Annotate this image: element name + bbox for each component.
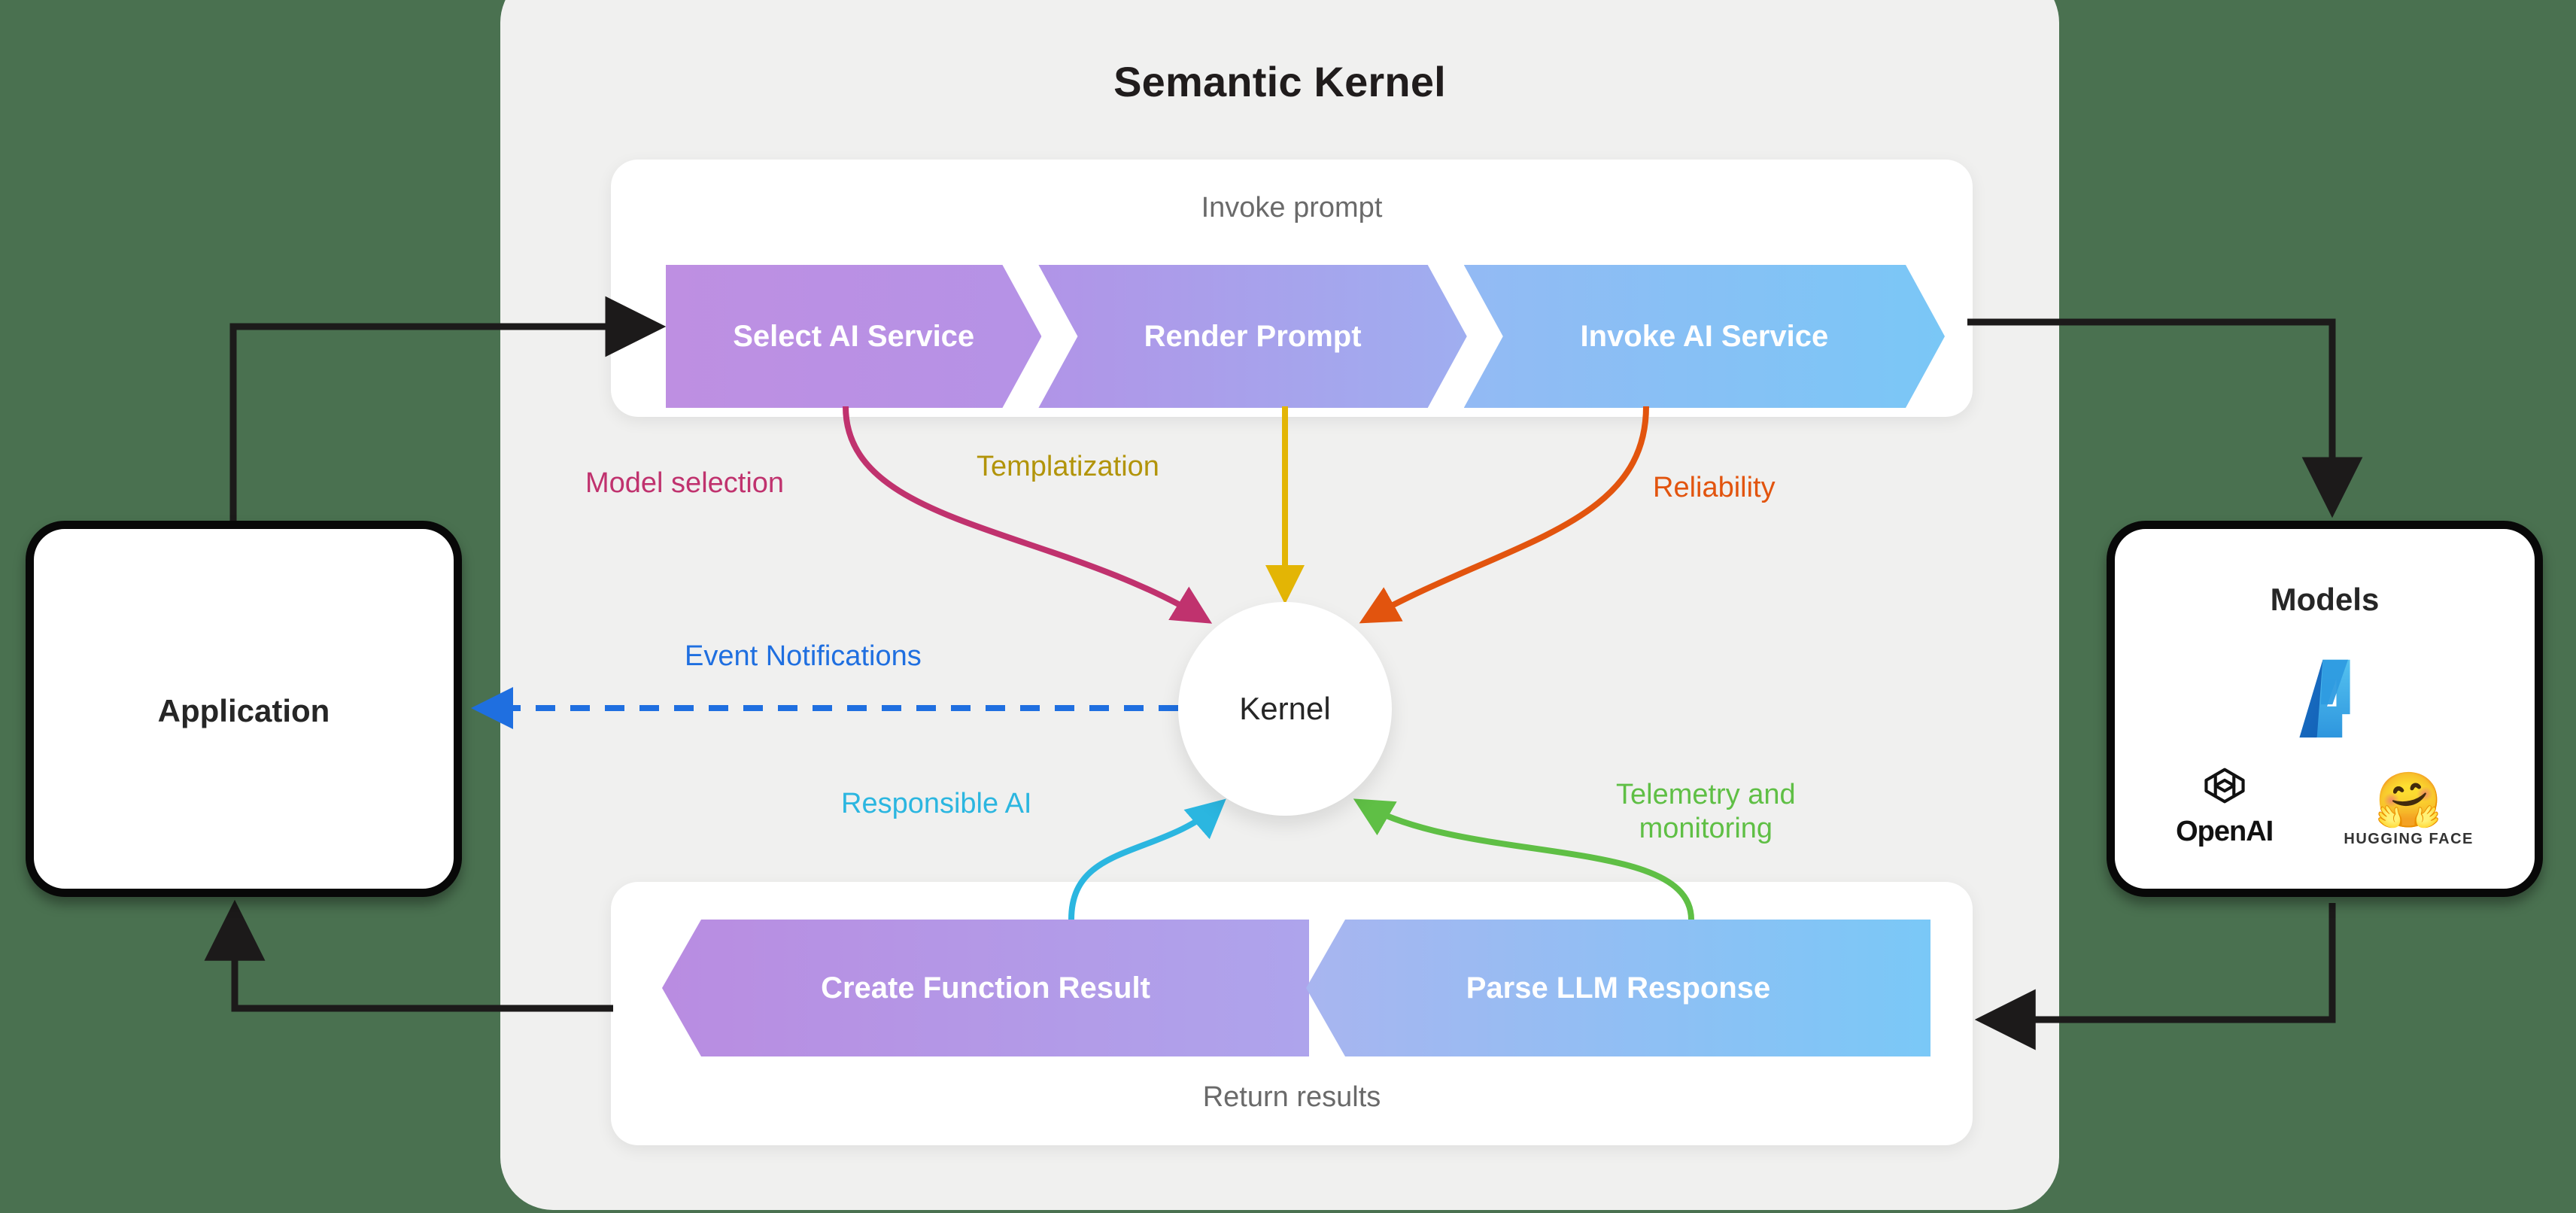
azure-logo-icon (2278, 654, 2371, 751)
annotation-event-notifications: Event Notifications (685, 640, 922, 673)
application-box[interactable]: Application (26, 521, 462, 897)
step-select-ai-service[interactable]: Select AI Service (666, 265, 1041, 408)
models-box[interactable]: Models (2107, 521, 2543, 897)
annotation-telemetry-monitoring: Telemetry and monitoring (1616, 778, 1796, 846)
provider-hugging-face[interactable]: 🤗 HUGGING FACE (2344, 774, 2473, 848)
kernel-label: Kernel (1239, 691, 1330, 727)
annotation-templatization: Templatization (977, 450, 1159, 484)
application-label: Application (34, 693, 454, 729)
step-create-function-result[interactable]: Create Function Result (662, 920, 1309, 1056)
return-results-caption: Return results (611, 1081, 1973, 1114)
annotation-reliability: Reliability (1653, 471, 1776, 505)
page-title: Semantic Kernel (500, 57, 2059, 106)
openai-logo-icon (2201, 762, 2248, 813)
kernel-node[interactable]: Kernel (1178, 602, 1392, 816)
annotation-model-selection: Model selection (585, 467, 784, 500)
annotation-responsible-ai: Responsible AI (841, 787, 1032, 821)
step-invoke-ai-service[interactable]: Invoke AI Service (1464, 265, 1945, 408)
openai-label: OpenAI (2176, 816, 2273, 848)
hugging-face-logo-icon: 🤗 (2375, 774, 2443, 828)
invoke-prompt-steps: Select AI Service Render Prompt Invoke A… (666, 265, 1945, 408)
return-results-steps: Create Function Result Parse LLM Respons… (662, 920, 1934, 1056)
step-render-prompt[interactable]: Render Prompt (1038, 265, 1466, 408)
provider-openai[interactable]: OpenAI (2176, 762, 2273, 848)
provider-logos: OpenAI 🤗 HUGGING FACE (2115, 762, 2535, 848)
step-parse-llm-response[interactable]: Parse LLM Response (1306, 920, 1930, 1056)
hugging-face-label: HUGGING FACE (2344, 831, 2473, 848)
models-label: Models (2115, 582, 2535, 618)
invoke-prompt-caption: Invoke prompt (611, 192, 1973, 224)
diagram-canvas: Semantic Kernel Invoke prompt Return res… (0, 0, 2576, 1213)
